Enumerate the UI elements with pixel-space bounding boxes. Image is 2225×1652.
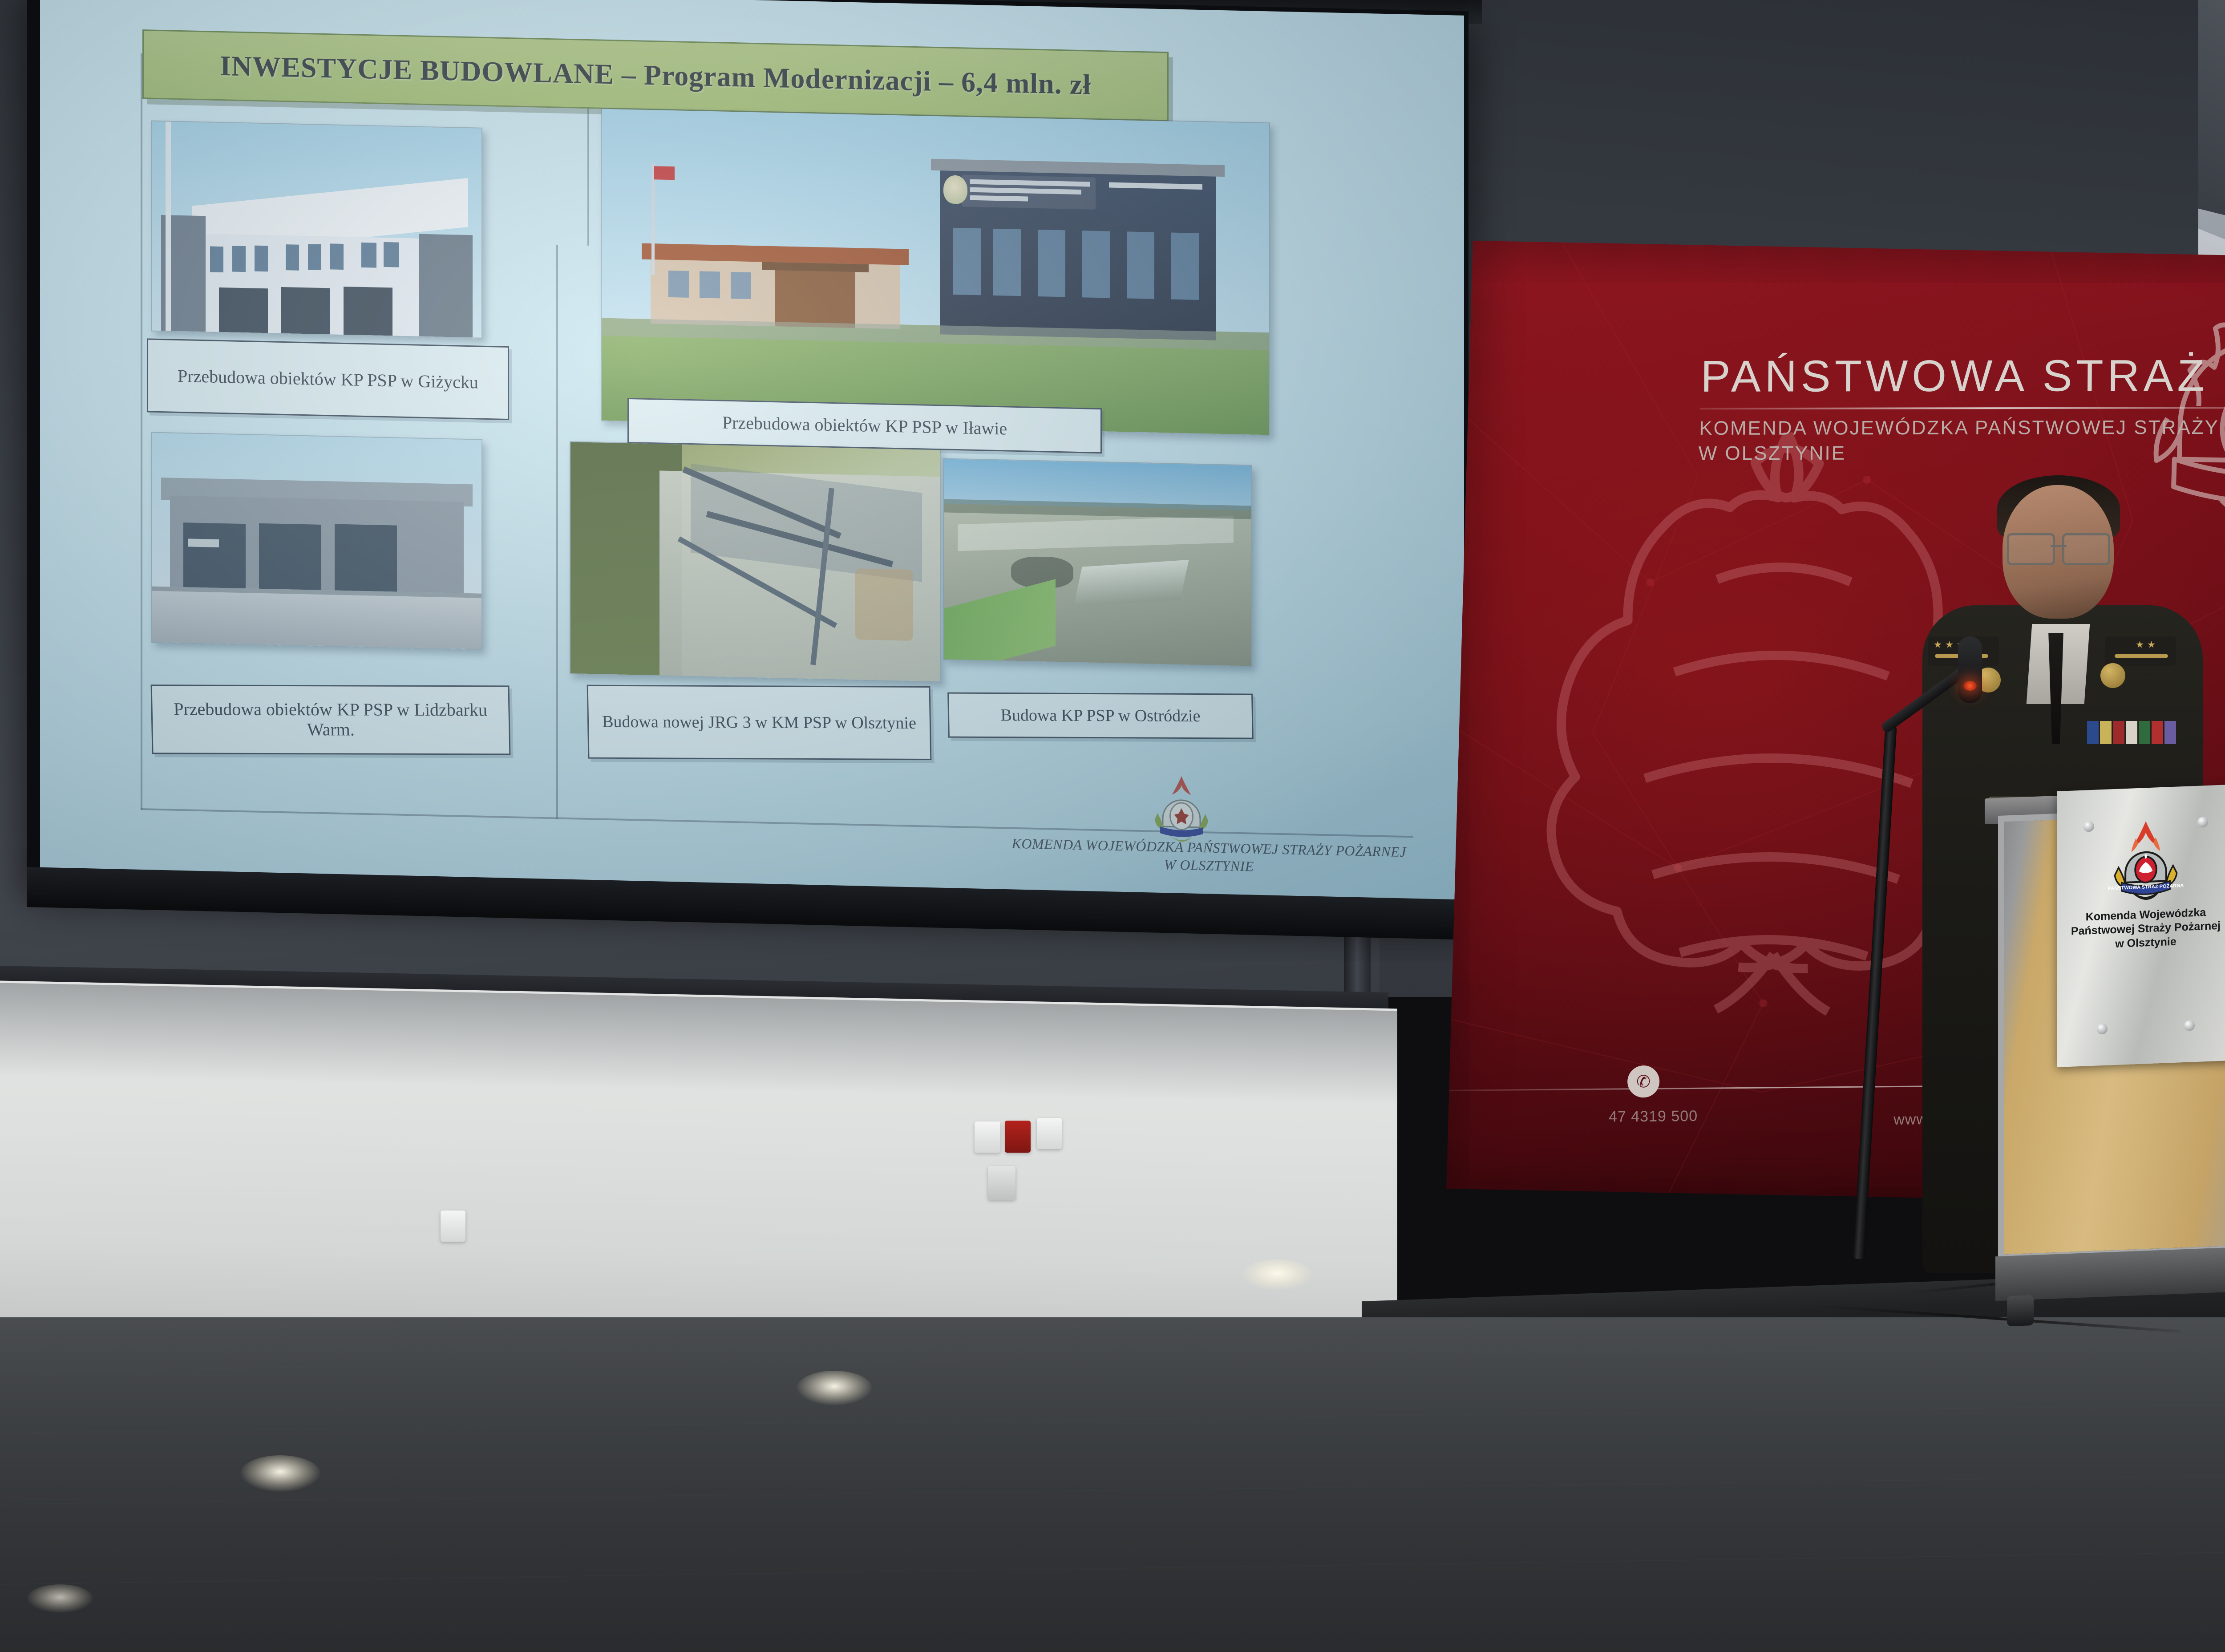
speaker-ribbon-bar [2087,721,2176,744]
plaque-text: Komenda Wojewódzka Państwowej Straży Poż… [2071,905,2221,953]
carpet-texture [0,1317,2225,1652]
podium: PAŃSTWOWA STRAŻ POŻARNA Komenda Wojewódz… [1998,786,2225,1354]
speaker-epaulette-right [2105,636,2176,666]
photo-lidzbark [151,432,482,650]
microphone-head [1958,636,1982,703]
plaque-screw [2184,1020,2195,1031]
floor-light-reflection [240,1455,320,1492]
psp-emblem-icon [1148,774,1215,842]
caption-gizycko: Przebudowa obiektów KP PSP w Giżycku [147,338,509,420]
photo-ilawa [601,108,1270,436]
banner-title: PAŃSTWOWA STRAŻ POŻARNA [1700,350,2225,402]
speaker-collar-badge-right [2100,663,2125,688]
photo-olsztyn [570,441,941,682]
wall-outlet [441,1211,465,1242]
psp-emblem: PAŃSTWOWA STRAŻ POŻARNA [2108,818,2184,905]
wall-panel-box [988,1166,1015,1200]
light-switch[interactable] [975,1122,1000,1153]
floor [0,1317,2225,1652]
conference-hall-scene: INWESTYCJE BUDOWLANE – Program Moderniza… [0,0,2225,1652]
plaque-screw [2197,817,2208,828]
caption-lidzbark: Przebudowa obiektów KP PSP w Lidzbarku W… [151,684,511,755]
podium-caster [2007,1295,2034,1326]
floor-light-reflection [1242,1259,1313,1291]
slide-title: INWESTYCJE BUDOWLANE – Program Moderniza… [220,49,1091,101]
presentation-slide: INWESTYCJE BUDOWLANE – Program Moderniza… [40,0,1464,901]
microphone-led-indicator [1963,681,1977,691]
slide-footer: KOMENDA WOJEWÓDZKA PAŃSTWOWEJ STRAŻY POŻ… [1012,834,1406,879]
banner-subtitle-line1: KOMENDA WOJEWÓDZKA PAŃSTWOWEJ STRAŻY POŻ… [1699,416,2225,440]
podium-plaque: PAŃSTWOWA STRAŻ POŻARNA Komenda Wojewódz… [2057,785,2225,1067]
caption-olsztyn: Budowa nowej JRG 3 w KM PSP w Olsztynie [587,685,932,760]
projection-screen: INWESTYCJE BUDOWLANE – Program Moderniza… [40,0,1464,901]
floor-light-reflection [27,1584,93,1613]
plaque-screw [2097,1024,2108,1035]
caption-ostroda: Budowa KP PSP w Ostródzie [947,692,1254,739]
photo-gizycko [151,121,482,339]
speaker-glasses [2007,533,2110,561]
plaque-screw [2083,821,2094,832]
banner-phone: 47 4319 500 [1609,1108,1698,1126]
emergency-outlet [1005,1121,1031,1153]
slide-title-box: INWESTYCJE BUDOWLANE – Program Moderniza… [142,29,1169,121]
floor-light-reflection [797,1371,872,1405]
wall-outlet-secondary [1037,1118,1062,1149]
banner-subtitle-line2: W OLSZTYNIE [1699,442,1846,465]
photo-ostroda [943,458,1252,667]
